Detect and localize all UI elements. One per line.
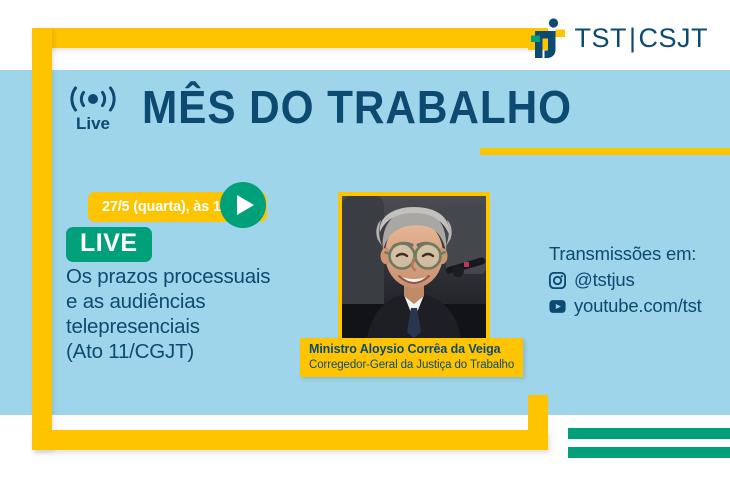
channel-youtube-label: youtube.com/tst [574, 294, 702, 318]
event-description: Os prazos processuais e as audiências te… [66, 264, 270, 364]
title-row: Live MÊS DO TRABALHO [62, 84, 609, 134]
frame-top-bar [32, 28, 548, 48]
green-accent-bar-top [568, 428, 730, 439]
description-line: Os prazos processuais [66, 264, 270, 289]
broadcast-waves-icon [62, 85, 124, 113]
status-badge-live: LIVE [66, 227, 152, 262]
channel-instagram-label: @tstjus [574, 268, 635, 292]
speaker-caption: Ministro Aloysio Corrêa da Veiga Correge… [300, 338, 523, 377]
channel-youtube[interactable]: youtube.com/tst [549, 294, 702, 318]
tst-csjt-figure-logo-icon [531, 18, 565, 58]
speaker-photo-frame [338, 192, 490, 347]
youtube-icon [549, 298, 566, 315]
play-button[interactable] [220, 182, 266, 228]
description-line: telepresenciais [66, 314, 270, 339]
brand-logo: TST|CSJT [531, 18, 708, 58]
poster-canvas: TST|CSJT Live MÊS DO TRABALHO 27/5 (quar… [0, 0, 730, 480]
logo-text-csjt: CSJT [639, 23, 709, 53]
brand-logo-text: TST|CSJT [574, 23, 708, 54]
live-mark-group: Live [62, 85, 124, 134]
transmissions-block: Transmissões em: @tstjus youtube.com/tst [549, 242, 702, 318]
transmissions-heading: Transmissões em: [549, 242, 702, 266]
speaker-name: Ministro Aloysio Corrêa da Veiga [309, 342, 514, 358]
frame-bottom-bar [32, 430, 548, 450]
speaker-photo [342, 196, 486, 343]
speaker-role: Corregedor-Geral da Justiça do Trabalho [309, 358, 514, 372]
logo-text-separator: | [627, 23, 639, 53]
instagram-icon [549, 272, 566, 289]
frame-right-lower-bar [528, 395, 548, 450]
live-word-label: Live [62, 114, 124, 134]
page-title: MÊS DO TRABALHO [142, 84, 572, 130]
logo-text-tst: TST [574, 23, 627, 53]
channel-instagram[interactable]: @tstjus [549, 268, 702, 292]
description-line: e as audiências [66, 289, 270, 314]
yellow-divider-rule [480, 148, 730, 155]
frame-left-bar [32, 28, 52, 450]
green-accent-bar-bottom [568, 447, 730, 458]
description-line: (Ato 11/CGJT) [66, 339, 270, 364]
play-button-icon [237, 195, 254, 215]
